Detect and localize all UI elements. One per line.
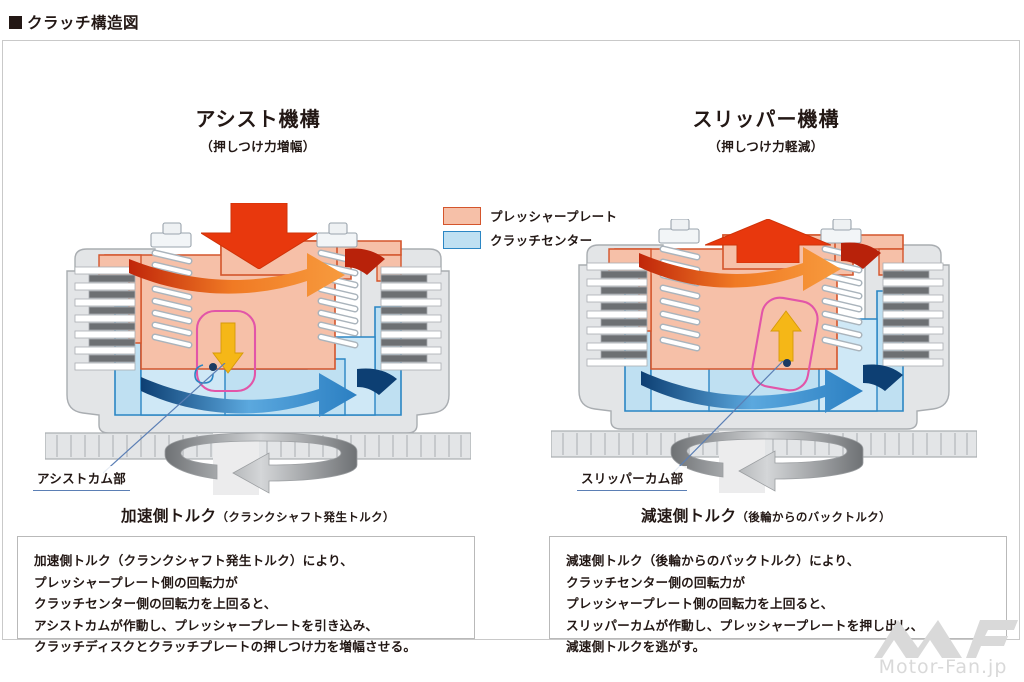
description-box-assist: 加速側トルク（クランクシャフト発生トルク）により、 プレッシャープレート側の回転… bbox=[17, 536, 475, 639]
assist-cam-leader-line bbox=[103, 363, 233, 479]
callout-slipper-cam: スリッパーカム部 bbox=[577, 466, 687, 491]
page-title-text: クラッチ構造図 bbox=[27, 11, 139, 33]
panel-title-assist: アシスト機構 bbox=[3, 103, 513, 132]
description-line: クラッチディスクとクラッチプレートの押しつけ力を増幅させる。 bbox=[34, 636, 458, 658]
clutch-center-swatch bbox=[443, 231, 481, 249]
torque-caption-slipper: 減速側トルク（後輪からのバックトルク） bbox=[511, 504, 1021, 526]
description-line: アシストカムが作動し、プレッシャープレートを引き込み、 bbox=[34, 615, 458, 637]
torque-paren-assist: （クランクシャフト発生トルク） bbox=[216, 510, 395, 524]
description-line: スリッパーカムが作動し、プレッシャープレートを押し出し、 bbox=[566, 615, 990, 637]
bullet-square-icon bbox=[9, 16, 22, 29]
legend-item-pressure-plate: プレッシャープレート bbox=[443, 206, 643, 225]
panel-subtitle-assist: （押しつけ力増幅） bbox=[3, 136, 513, 155]
callout-assist-cam: アシストカム部 bbox=[33, 466, 130, 491]
torque-main-assist: 加速側トルク bbox=[121, 507, 216, 525]
torque-main-slipper: 減速側トルク bbox=[641, 507, 736, 525]
legend-label-pressure-plate: プレッシャープレート bbox=[490, 206, 617, 225]
torque-paren-slipper: （後輪からのバックトルク） bbox=[736, 510, 891, 524]
legend-item-clutch-center: クラッチセンター bbox=[443, 230, 643, 249]
panel-subtitle-slipper: （押しつけ力軽減） bbox=[511, 136, 1021, 155]
description-line: クラッチセンター側の回転力を上回ると、 bbox=[34, 593, 458, 615]
panel-slipper: スリッパー機構 （押しつけ力軽減） bbox=[511, 41, 1021, 641]
force-reduce-arrow bbox=[705, 219, 831, 263]
panel-assist: アシスト機構 （押しつけ力増幅） bbox=[3, 41, 513, 641]
torque-caption-assist: 加速側トルク（クランクシャフト発生トルク） bbox=[3, 504, 513, 526]
slipper-cam-leader-line bbox=[671, 361, 791, 481]
description-line: プレッシャープレート側の回転力が bbox=[34, 572, 458, 594]
diagram-frame: プレッシャープレート クラッチセンター アシスト機構 （押しつけ力増幅） bbox=[2, 40, 1020, 640]
description-box-slipper: 減速側トルク（後輪からのバックトルク）により、 クラッチセンター側の回転力が プ… bbox=[549, 536, 1007, 639]
description-line: 減速側トルク（後輪からのバックトルク）により、 bbox=[566, 550, 990, 572]
description-line: クラッチセンター側の回転力が bbox=[566, 572, 990, 594]
diagram-page: クラッチ構造図 プレッシャープレート クラッチセンター アシスト機構 （押しつけ… bbox=[0, 0, 1024, 682]
pressure-plate-swatch bbox=[443, 207, 481, 225]
legend-label-clutch-center: クラッチセンター bbox=[490, 230, 592, 249]
page-title: クラッチ構造図 bbox=[9, 11, 139, 33]
description-line: 加速側トルク（クランクシャフト発生トルク）により、 bbox=[34, 550, 458, 572]
watermark-text: Motor-Fan.jp bbox=[879, 656, 1008, 678]
panel-title-slipper: スリッパー機構 bbox=[511, 103, 1021, 132]
description-line: プレッシャープレート側の回転力を上回ると、 bbox=[566, 593, 990, 615]
legend: プレッシャープレート クラッチセンター bbox=[443, 206, 643, 249]
force-increase-arrow bbox=[201, 203, 317, 269]
description-line: 減速側トルクを逃がす。 bbox=[566, 636, 990, 658]
